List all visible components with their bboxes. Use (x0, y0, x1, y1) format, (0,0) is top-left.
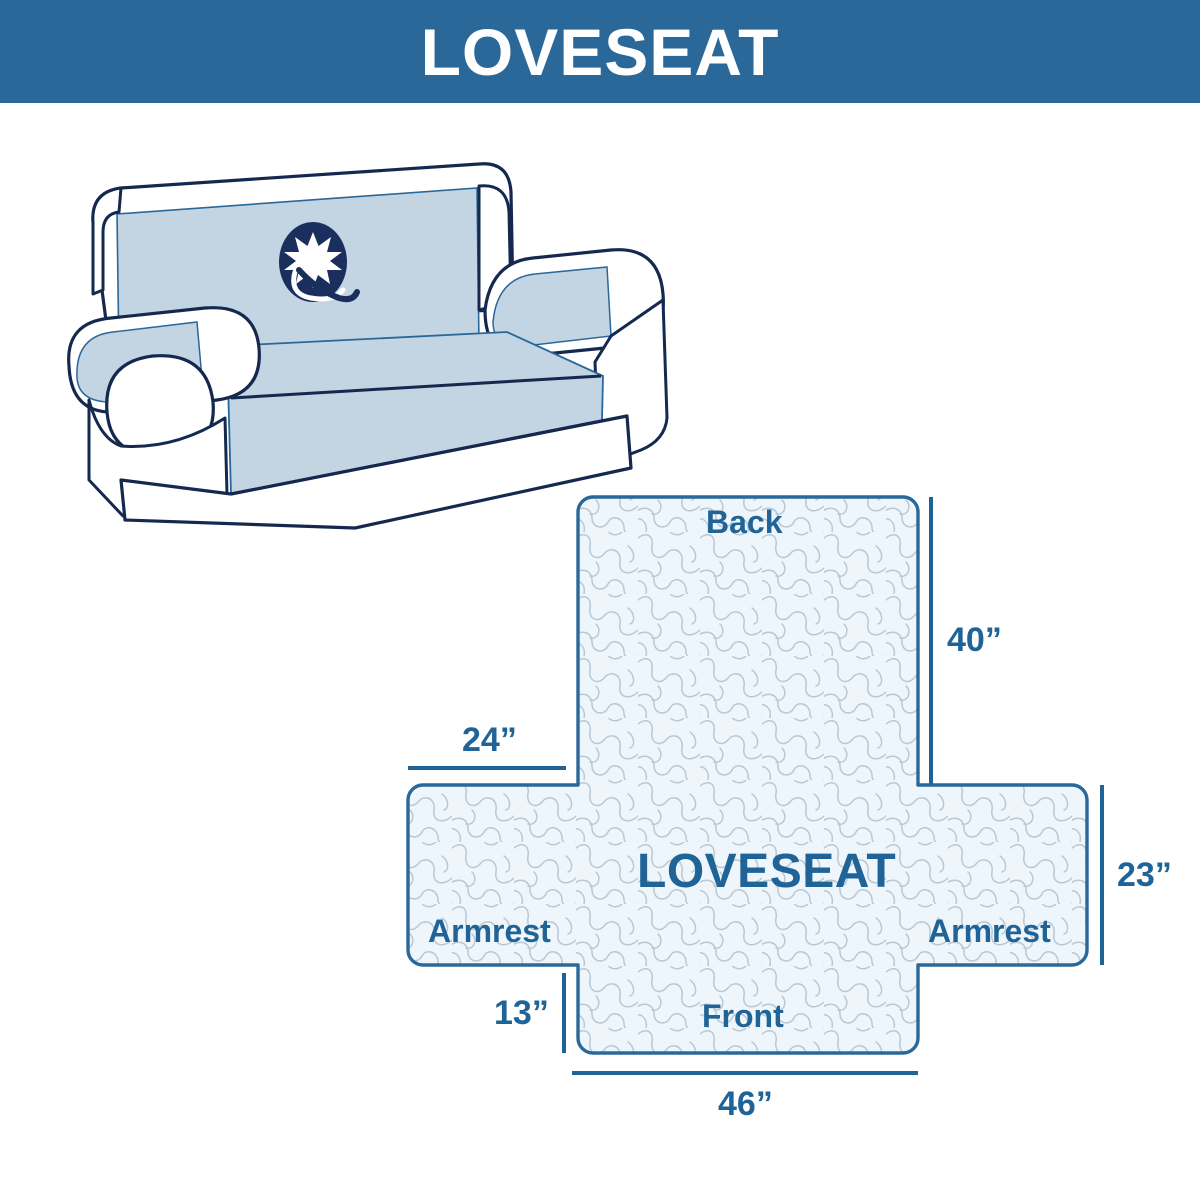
loveseat-dimension-page: LOVESEAT (0, 0, 1200, 1200)
panel-label-armrest-right: Armrest (928, 915, 1051, 947)
cover-cross-shape (408, 497, 1087, 1053)
page-title: LOVESEAT (421, 19, 780, 85)
dimension-label-front-height: 13” (494, 996, 549, 1030)
panel-label-back: Back (706, 506, 783, 538)
panel-label-armrest-left: Armrest (428, 915, 551, 947)
panel-label-front: Front (702, 1000, 784, 1032)
dimension-label-back-width: 24” (462, 723, 517, 757)
cover-dimension-diagram: Back Armrest Armrest Front LOVESEAT 40” … (390, 470, 1190, 1130)
dimension-label-arm-height: 23” (1117, 858, 1172, 892)
dimension-label-front-width: 46” (718, 1087, 773, 1121)
diagram-center-label: LOVESEAT (637, 848, 896, 896)
header-banner: LOVESEAT (0, 0, 1200, 103)
dimension-label-back-height: 40” (947, 623, 1002, 657)
